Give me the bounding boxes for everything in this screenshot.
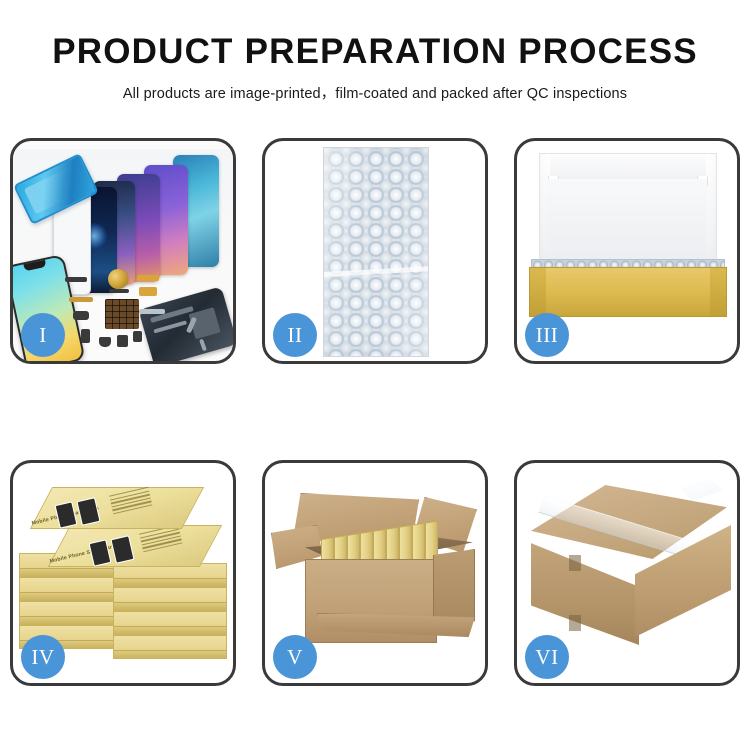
bubble-wrap-pouch [323,147,429,357]
speaker-coil-icon [108,269,128,289]
printed-box-lid-2 [48,525,222,567]
spare-part [73,311,89,320]
spare-part [133,331,142,342]
step-badge-5: V [273,635,317,679]
stacked-box [19,601,117,625]
packing-tape-tail [679,479,723,501]
box-edge [114,626,226,634]
carton-seam [569,615,581,631]
product-preparation-infographic: PRODUCT PREPARATION PROCESS All products… [0,0,750,750]
step-badge-4: IV [21,635,65,679]
spare-part [109,289,129,293]
step-badge-3: III [525,313,569,357]
process-step-panel-4: Mobile Phone Spare Parts Mobile Phone Sp… [10,460,236,686]
step-badge-6: VI [525,635,569,679]
box-edge [114,602,226,610]
flex-cable [139,309,165,314]
step-badge-2: II [273,313,317,357]
pouch-sheen [324,148,428,356]
spare-part [117,335,128,347]
box-edge [114,578,226,586]
stacked-box [113,611,227,635]
box-side-left [530,268,546,316]
chip-grid-icon [105,299,139,329]
carton-seam [569,555,581,571]
flex-cable [137,275,159,281]
spare-part [99,337,111,347]
box-side-right [710,268,726,316]
stacked-box [19,577,117,601]
process-step-panel-3: III [514,138,740,364]
spare-part [81,329,90,343]
flex-cable [69,297,93,302]
sealed-carton-left-face [531,541,639,645]
box-edge [20,616,116,624]
process-step-panel-1: I [10,138,236,364]
page-subtitle: All products are image-printed，film-coat… [0,82,750,103]
mailer-box-base [529,267,727,317]
stacked-box [113,587,227,611]
header: PRODUCT PREPARATION PROCESS All products… [0,34,750,103]
mailer-box-interior [547,179,707,261]
backplate-detail [153,320,187,333]
flex-cable [139,287,157,296]
stacked-box [113,635,227,659]
process-step-panel-2: II [262,138,488,364]
box-edge [114,650,226,658]
box-edge [20,592,116,600]
spare-part [65,277,87,282]
process-step-panel-6: VI [514,460,740,686]
box-edge [20,568,116,576]
process-step-grid: I II [10,138,740,686]
page-title: PRODUCT PREPARATION PROCESS [0,34,750,71]
process-step-panel-5: V [262,460,488,686]
step-badge-1: I [21,313,65,357]
